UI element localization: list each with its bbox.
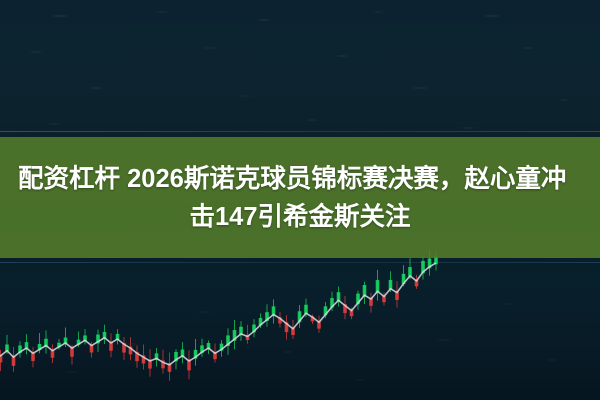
headline-band: 配资杠杆 2026斯诺克球员锦标赛决赛，赵心童冲 击147引希金斯关注 — [0, 137, 600, 258]
promo-banner: 配资杠杆 2026斯诺克球员锦标赛决赛，赵心童冲 击147引希金斯关注 — [0, 0, 600, 400]
headline-line-2: 击147引希金斯关注 — [189, 198, 410, 236]
headline-line-1: 配资杠杆 2026斯诺克球员锦标赛决赛，赵心童冲 — [14, 160, 566, 198]
